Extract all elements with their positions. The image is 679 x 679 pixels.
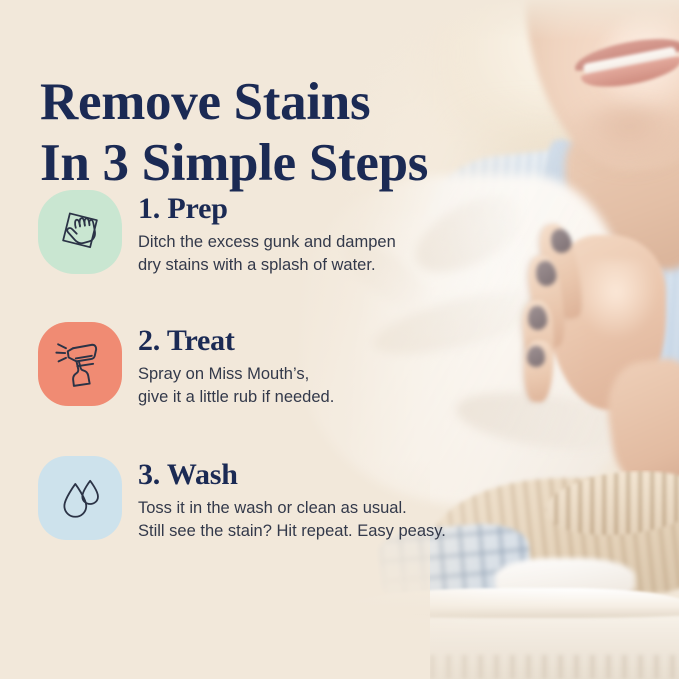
step-text-treat: 2. Treat Spray on Miss Mouth’s, give it … <box>138 322 334 410</box>
step-item-wash: 3. Wash Toss it in the wash or clean as … <box>38 456 446 544</box>
step-title: 3. Wash <box>138 458 446 491</box>
step-text-prep: 1. Prep Ditch the excess gunk and dampen… <box>138 190 396 278</box>
promotional-infographic: Remove Stains In 3 Simple Steps 1. Prep … <box>0 0 679 679</box>
infographic-content: Remove Stains In 3 Simple Steps 1. Prep … <box>0 0 679 679</box>
step-description: Spray on Miss Mouth’s, give it a little … <box>138 363 334 410</box>
step-title: 2. Treat <box>138 324 334 357</box>
spray-bottle-icon <box>38 322 122 406</box>
step-description: Ditch the excess gunk and dampen dry sta… <box>138 231 396 278</box>
step-item-prep: 1. Prep Ditch the excess gunk and dampen… <box>38 190 396 278</box>
headline: Remove Stains In 3 Simple Steps <box>40 72 580 195</box>
hand-wiping-cloth-icon <box>38 190 122 274</box>
water-droplets-icon <box>38 456 122 540</box>
step-item-treat: 2. Treat Spray on Miss Mouth’s, give it … <box>38 322 334 410</box>
step-text-wash: 3. Wash Toss it in the wash or clean as … <box>138 456 446 544</box>
step-title: 1. Prep <box>138 192 396 225</box>
step-description: Toss it in the wash or clean as usual. S… <box>138 497 446 544</box>
